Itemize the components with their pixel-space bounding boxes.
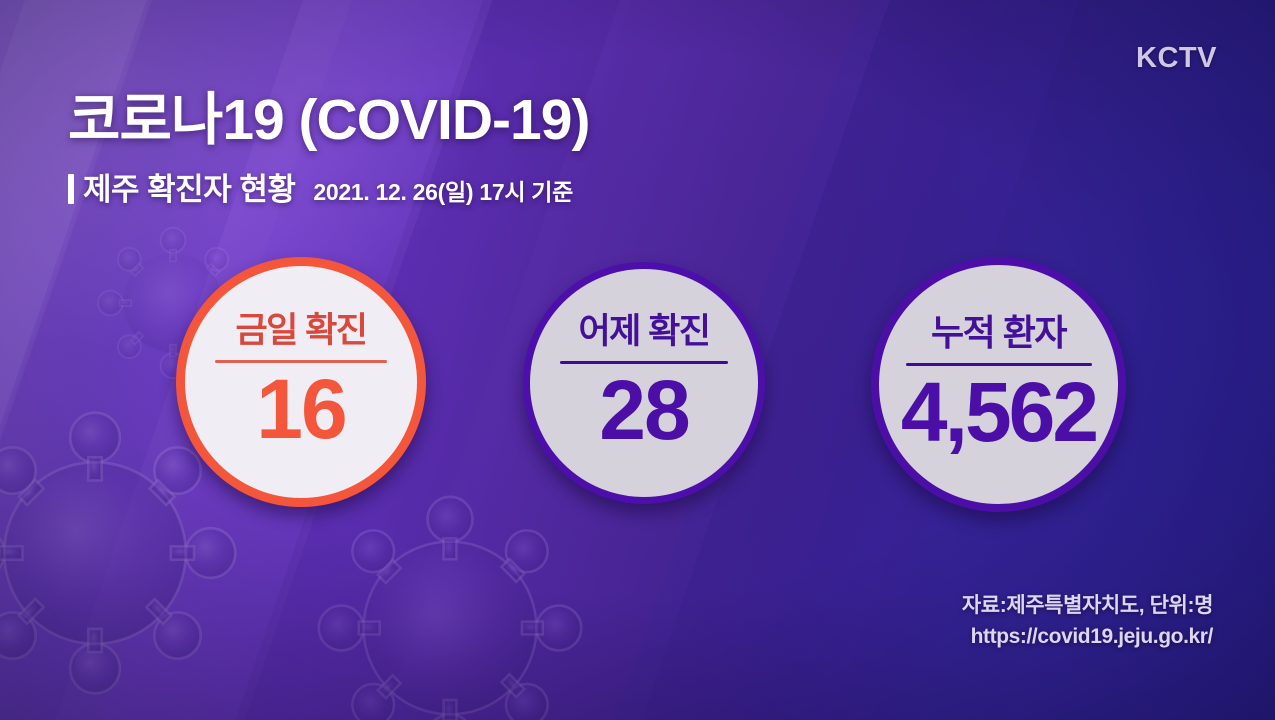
source-url: https://covid19.jeju.go.kr/ xyxy=(962,622,1213,652)
subtitle-row: 제주 확진자 현황 2021. 12. 26(일) 17시 기준 xyxy=(68,164,589,209)
stat-value-yesterday: 28 xyxy=(599,368,688,452)
stat-label-total: 누적 환자 xyxy=(931,315,1066,351)
broadcast-graphic: KCTV 코로나19 (COVID-19) 제주 확진자 현황 2021. 12… xyxy=(0,0,1275,720)
stat-circle-today: 금일 확진 16 xyxy=(176,257,426,507)
stat-label-today: 금일 확진 xyxy=(235,313,366,348)
page-title: 코로나19 (COVID-19) xyxy=(68,90,589,152)
title-block: 코로나19 (COVID-19) 제주 확진자 현황 2021. 12. 26(… xyxy=(68,90,589,209)
stat-value-today: 16 xyxy=(256,367,345,451)
stat-circle-yesterday: 어제 확진 28 xyxy=(523,262,765,504)
kctv-logo: KCTV xyxy=(1136,42,1217,75)
stat-circle-total: 누적 환자 4,562 xyxy=(871,257,1126,512)
source-organization: 자료:제주특별자치도, 단위:명 xyxy=(962,591,1213,621)
reference-datetime: 2021. 12. 26(일) 17시 기준 xyxy=(313,173,573,207)
subtitle-bar-marker xyxy=(68,174,74,204)
page-subtitle: 제주 확진자 현황 xyxy=(83,164,295,209)
stat-value-total: 4,562 xyxy=(901,370,1096,454)
source-credit: 자료:제주특별자치도, 단위:명 https://covid19.jeju.go… xyxy=(962,591,1213,652)
stat-label-yesterday: 어제 확진 xyxy=(578,314,709,349)
